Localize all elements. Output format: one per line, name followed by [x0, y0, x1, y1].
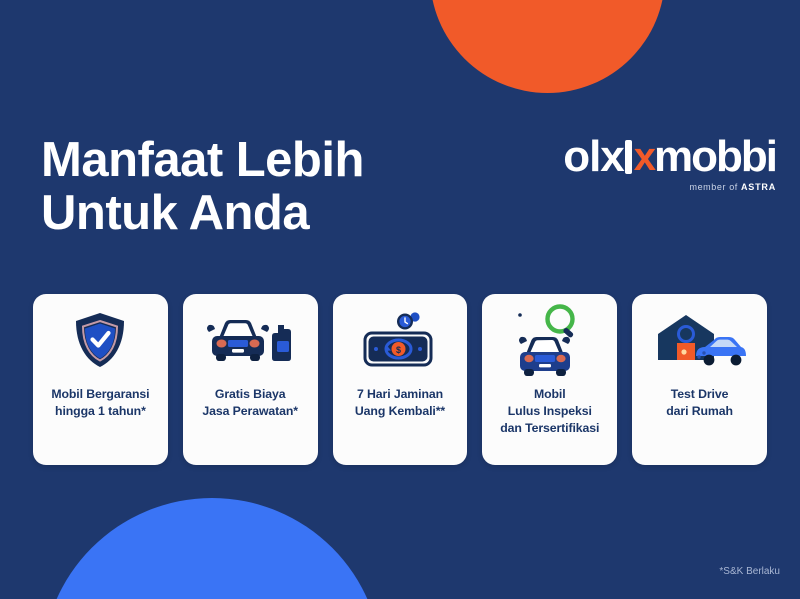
logo-wordmark: olxxmobbi — [563, 135, 776, 179]
logo-tagline: member of ASTRA — [563, 182, 776, 192]
benefit-card-label: Test Drive dari Rumah — [660, 386, 739, 420]
logo-tagline-brand: ASTRA — [741, 182, 776, 192]
blue-circle-decoration — [42, 498, 382, 599]
benefit-card-test-drive[interactable]: Test Drive dari Rumah — [632, 294, 767, 465]
logo-x-accent: x — [634, 137, 654, 177]
logo-olx-text: olx — [563, 135, 624, 179]
benefit-card-list: Mobil Bergaransi hingga 1 tahun* — [33, 294, 767, 465]
svg-text:$: $ — [396, 345, 401, 355]
promo-poster: Manfaat Lebih Untuk Anda olxxmobbi membe… — [0, 0, 800, 599]
benefit-card-money-back[interactable]: $ 7 Hari Jaminan Uang Kembali** — [333, 294, 468, 465]
car-front-oil-bottle-icon — [183, 294, 318, 386]
car-inspection-magnifier-icon — [482, 294, 617, 386]
money-refund-icon: $ — [333, 294, 468, 386]
benefit-card-label: Mobil Lulus Inspeksi dan Tersertifikasi — [494, 386, 605, 437]
logo-divider-bar — [625, 140, 632, 174]
terms-footnote: *S&K Berlaku — [719, 566, 780, 577]
benefit-card-label: Gratis Biaya Jasa Perawatan* — [196, 386, 304, 420]
benefit-card-label: 7 Hari Jaminan Uang Kembali** — [349, 386, 451, 420]
benefit-card-label: Mobil Bergaransi hingga 1 tahun* — [45, 386, 155, 420]
house-car-icon — [632, 294, 767, 386]
benefit-card-free-service[interactable]: Gratis Biaya Jasa Perawatan* — [183, 294, 318, 465]
page-title: Manfaat Lebih Untuk Anda — [41, 134, 364, 240]
brand-logo: olxxmobbi member of ASTRA — [563, 135, 776, 192]
benefit-card-inspected[interactable]: Mobil Lulus Inspeksi dan Tersertifikasi — [482, 294, 617, 465]
orange-circle-decoration — [430, 0, 665, 93]
shield-check-icon — [33, 294, 168, 386]
logo-tagline-prefix: member of — [689, 182, 741, 192]
logo-mobbi-text: mobbi — [654, 135, 776, 179]
benefit-card-warranty[interactable]: Mobil Bergaransi hingga 1 tahun* — [33, 294, 168, 465]
